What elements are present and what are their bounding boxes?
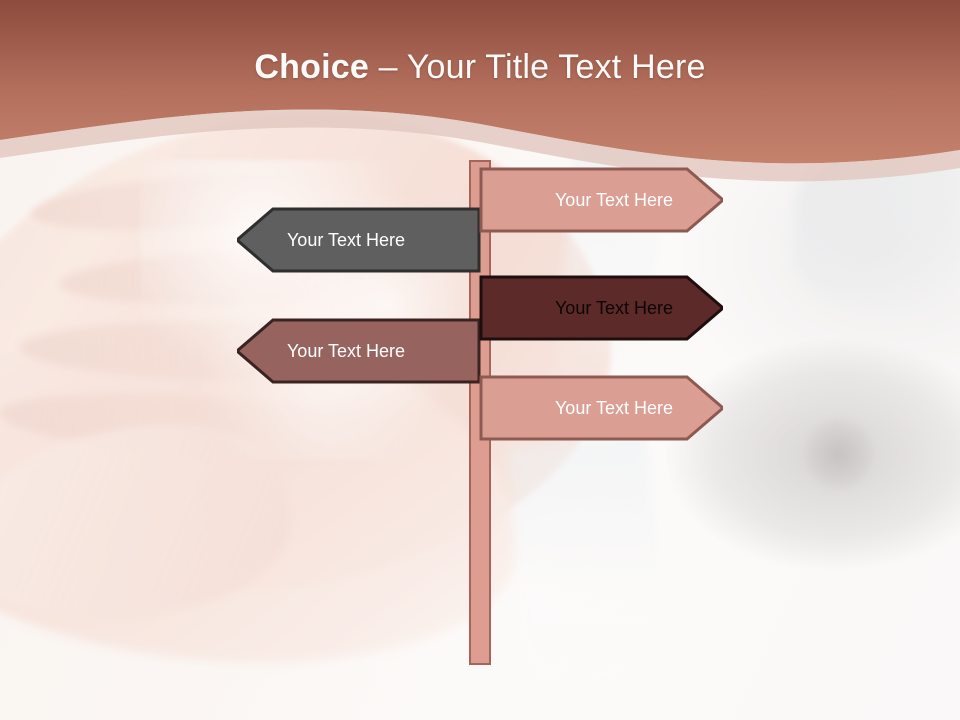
page-title-strong: Choice: [254, 48, 369, 86]
page-title: Choice – Your Title Text Here: [0, 48, 960, 87]
sign-right-3-label: Your Text Here: [479, 399, 723, 417]
sign-right-2[interactable]: Your Text Here: [479, 275, 723, 341]
sign-right-1-label: Your Text Here: [479, 191, 723, 209]
sign-left-2[interactable]: Your Text Here: [237, 318, 481, 384]
sign-right-2-label: Your Text Here: [479, 299, 723, 317]
sign-left-2-label: Your Text Here: [237, 342, 481, 360]
sign-left-1-label: Your Text Here: [237, 231, 481, 249]
sign-right-3[interactable]: Your Text Here: [479, 375, 723, 441]
header-band: Choice – Your Title Text Here: [0, 0, 960, 185]
slide-canvas: Choice – Your Title Text Here Your Text …: [0, 0, 960, 720]
sign-left-1[interactable]: Your Text Here: [237, 207, 481, 273]
page-title-rest: – Your Title Text Here: [369, 48, 706, 86]
sign-right-1[interactable]: Your Text Here: [479, 167, 723, 233]
